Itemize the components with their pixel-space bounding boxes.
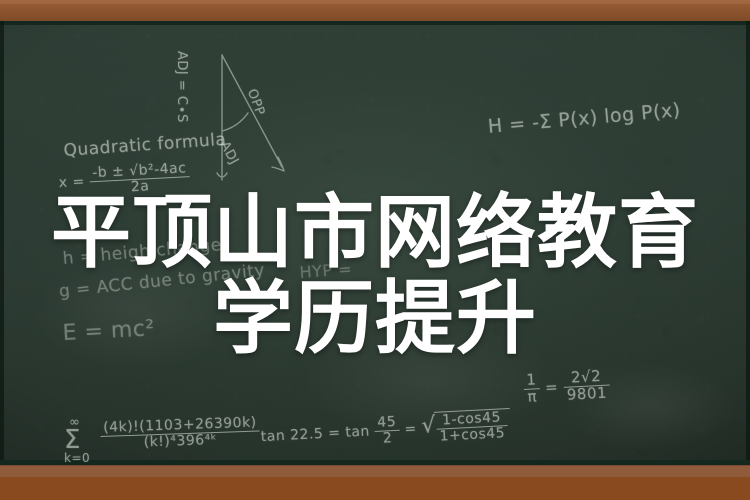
chalk-pi-lhs-denominator: π <box>524 389 541 406</box>
chalk-tan-radicand: 1-cos45 1+cos45 <box>433 408 511 444</box>
chalk-triangle-label-adj: ADJ = C∙S <box>174 51 189 123</box>
blackboard-surface: ADJ = C∙S OPP ADJ Quadratic formula x = … <box>0 21 750 465</box>
chalk-tan-angle-numerator: 45 <box>374 415 400 432</box>
chalk-triangle-label-opp: OPP <box>244 87 267 118</box>
chalk-ramanujan-sigma: Σ <box>64 425 81 455</box>
board-chalk-ledge-shadow <box>0 465 750 466</box>
chalk-pi-lhs-fraction: 1 π <box>523 372 541 405</box>
chalk-ramanujan-denominator: (k!)⁴396⁴ᵏ <box>101 431 261 451</box>
chalk-tan-half-angle-identity: tan 22.5 = tan 45 2 = √ 1-cos45 1+cos45 <box>260 408 511 453</box>
poster-title-line-2: 学历提升 <box>0 279 750 359</box>
chalk-pi-rhs-denominator: 9801 <box>564 385 611 403</box>
chalk-pi-identity: 1 π = 2√2 9801 <box>523 369 610 406</box>
chalk-pi-rhs-fraction: 2√2 9801 <box>563 369 611 404</box>
chalk-quadratic-label: Quadratic formula <box>63 130 227 161</box>
board-inner-edge-top <box>0 21 750 25</box>
chalk-pi-equals: = <box>545 378 559 397</box>
chalk-tan-radicand-fraction: 1-cos45 1+cos45 <box>435 410 508 444</box>
chalk-tan-equals: = <box>404 421 417 438</box>
chalk-triangle-label-theta: ADJ <box>217 139 242 167</box>
board-smudge-right <box>560 361 740 451</box>
chalk-tan-radicand-denominator: 1+cos45 <box>436 426 508 444</box>
poster-title-line-1: 平顶山市网络教育 <box>0 193 750 273</box>
triangle-diagram-icon <box>186 45 316 195</box>
chalk-entropy-formula: H = -Σ P(x) log P(x) <box>487 99 681 138</box>
chalk-tan-half-lhs: tan 22.5 = tan <box>260 423 370 445</box>
chalk-tan-angle-fraction: 45 2 <box>374 415 400 447</box>
board-frame-top <box>0 0 750 21</box>
chalk-ramanujan-sum-limit-top: ∞ <box>69 415 80 430</box>
chalk-ramanujan-frac: (4k)!(1103+26390k) (k!)⁴396⁴ᵏ <box>100 415 260 451</box>
chalk-radical-sign: √ <box>421 413 437 439</box>
board-chalk-ledge <box>0 465 750 477</box>
chalk-tan-angle-denominator: 2 <box>375 430 401 446</box>
chalk-ramanujan-fraction: (4k)!(1103+26390k) (k!)⁴396⁴ᵏ <box>100 415 260 451</box>
chalk-ramanujan-numerator: (4k)!(1103+26390k) <box>100 415 260 436</box>
chalk-pi-lhs-numerator: 1 <box>523 372 540 390</box>
board-frame-top-highlight <box>0 0 750 4</box>
chalkboard-poster: ADJ = C∙S OPP ADJ Quadratic formula x = … <box>0 0 750 500</box>
chalk-tan-radicand-numerator: 1-cos45 <box>435 410 507 429</box>
chalk-quadratic-numerator: -b ± √b²-4ac <box>89 161 190 182</box>
chalk-pi-rhs-numerator: 2√2 <box>563 369 610 388</box>
